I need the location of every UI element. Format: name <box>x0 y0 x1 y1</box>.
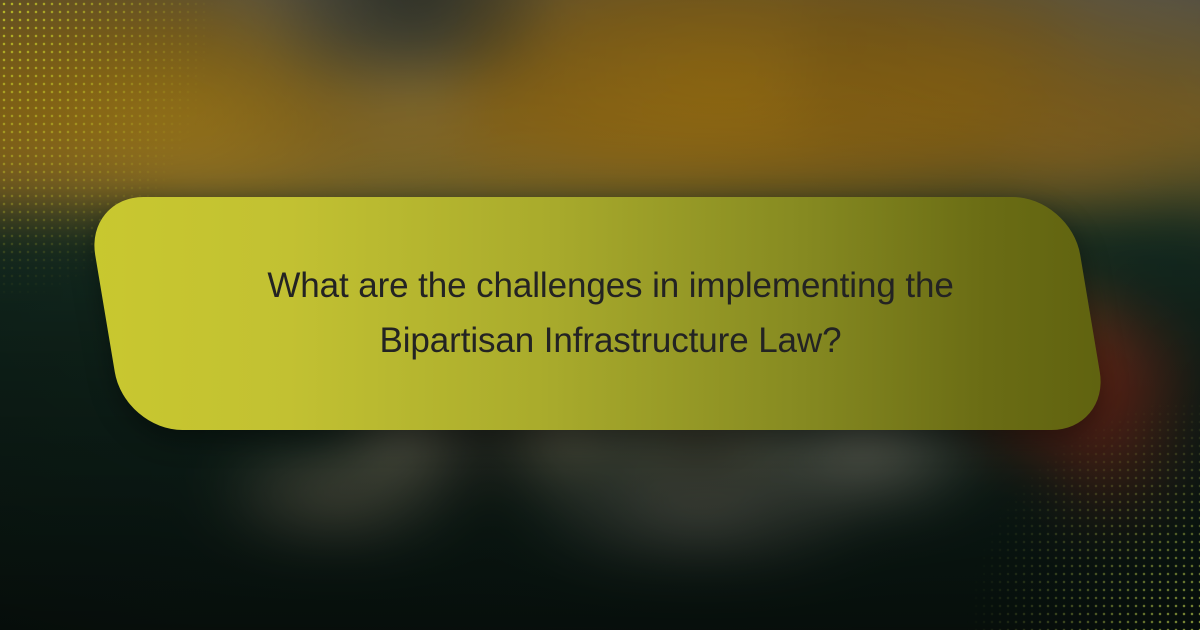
question-card: What are the challenges in implementing … <box>105 197 1090 430</box>
question-text: What are the challenges in implementing … <box>168 259 1028 368</box>
og-image-card: What are the challenges in implementing … <box>0 0 1200 630</box>
